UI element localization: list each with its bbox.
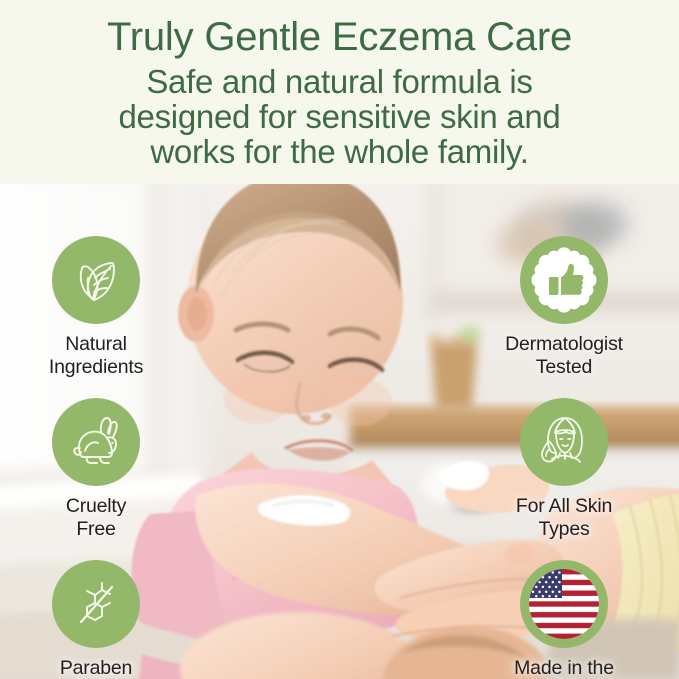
page-title: Truly Gentle Eczema Care bbox=[0, 0, 679, 60]
badge-column-right: Dermatologist Tested bbox=[474, 236, 654, 679]
badge-paraben-free[interactable]: Paraben Free bbox=[6, 560, 186, 679]
rabbit-icon bbox=[67, 415, 125, 469]
badge-label: Made in the USA bbox=[514, 657, 614, 679]
molecule-no-icon bbox=[69, 577, 123, 631]
badge-for-all-skin-types[interactable]: For All Skin Types bbox=[474, 398, 654, 541]
badge-dermatologist-tested[interactable]: Dermatologist Tested bbox=[474, 236, 654, 379]
badge-label-line-1: Natural bbox=[49, 333, 143, 356]
subtitle-line-3: works for the whole family. bbox=[0, 134, 679, 169]
face-droplet-icon bbox=[534, 413, 594, 471]
badge-natural-ingredients[interactable]: Natural Ingredients bbox=[6, 236, 186, 379]
badge-label: Natural Ingredients bbox=[49, 333, 143, 379]
badge-circle bbox=[520, 560, 608, 648]
badge-label-line-1: Paraben bbox=[60, 657, 132, 679]
badge-label: Dermatologist Tested bbox=[505, 333, 623, 379]
usa-flag-icon bbox=[529, 569, 599, 639]
badge-column-left: Natural Ingredients bbox=[6, 236, 186, 679]
header-band: Truly Gentle Eczema Care Safe and natura… bbox=[0, 0, 679, 184]
badge-circle bbox=[520, 398, 608, 486]
badge-cruelty-free[interactable]: Cruelty Free bbox=[6, 398, 186, 541]
badge-circle bbox=[52, 398, 140, 486]
badge-label: Paraben Free bbox=[60, 657, 132, 679]
badge-circle bbox=[52, 560, 140, 648]
thumbs-up-badge-icon bbox=[528, 244, 600, 316]
badge-label-line-1: Dermatologist bbox=[505, 333, 623, 356]
badge-circle bbox=[52, 236, 140, 324]
badge-label-line-1: For All Skin bbox=[516, 495, 612, 518]
badge-label-line-2: Tested bbox=[505, 356, 623, 379]
subtitle-line-2: designed for sensitive skin and bbox=[0, 99, 679, 134]
usa-flag-svg bbox=[529, 569, 599, 639]
badge-label-line-2: Free bbox=[66, 518, 126, 541]
badge-label-line-2: Types bbox=[516, 518, 612, 541]
page-subtitle: Safe and natural formula is designed for… bbox=[0, 60, 679, 169]
badge-label-line-1: Cruelty bbox=[66, 495, 126, 518]
leaf-icon bbox=[68, 252, 124, 308]
badge-label-line-2: Ingredients bbox=[49, 356, 143, 379]
product-infographic: Truly Gentle Eczema Care Safe and natura… bbox=[0, 0, 679, 679]
badge-circle bbox=[520, 236, 608, 324]
badge-made-in-the-usa[interactable]: Made in the USA bbox=[474, 560, 654, 679]
subtitle-line-1: Safe and natural formula is bbox=[0, 64, 679, 99]
badge-label-line-1: Made in the bbox=[514, 657, 614, 679]
badge-label: For All Skin Types bbox=[516, 495, 612, 541]
badge-label: Cruelty Free bbox=[66, 495, 126, 541]
